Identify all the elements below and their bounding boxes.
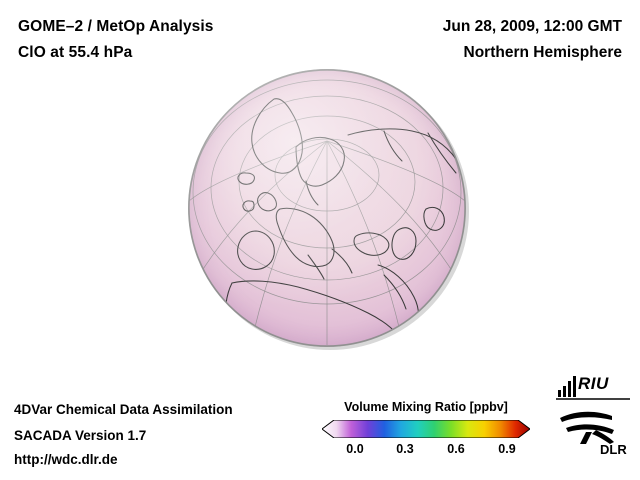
- dlr-bird-icon: [560, 412, 614, 444]
- colorbar-tick-3: 0.9: [498, 442, 515, 456]
- colorbar-tick-2: 0.6: [447, 442, 464, 456]
- dlr-label: DLR: [600, 442, 627, 457]
- page-title: GOME–2 / MetOp Analysis: [18, 18, 214, 36]
- colorbar-title: Volume Mixing Ratio [ppbv]: [312, 400, 540, 414]
- hemisphere-label: Northern Hemisphere: [464, 44, 622, 62]
- dlr-logo: RIU DLR: [556, 372, 632, 462]
- riu-label: RIU: [578, 374, 609, 394]
- colorbar-tick-0: 0.0: [346, 442, 363, 456]
- colorbar-gradient: [322, 420, 530, 438]
- globe-map: [185, 64, 475, 370]
- graticule-meridians: [189, 141, 465, 345]
- footer-line-2: SACADA Version 1.7: [14, 428, 146, 443]
- timestamp-label: Jun 28, 2009, 12:00 GMT: [443, 18, 622, 36]
- page-subtitle: ClO at 55.4 hPa: [18, 44, 132, 62]
- colorbar-tick-1: 0.3: [396, 442, 413, 456]
- colorbar-ticks: 0.0 0.3 0.6 0.9: [312, 442, 540, 460]
- coastlines: [225, 99, 456, 347]
- colorbar: Volume Mixing Ratio [ppbv]: [312, 400, 540, 462]
- footer-url[interactable]: http://wdc.dlr.de: [14, 452, 118, 467]
- riu-stripes-icon: [558, 376, 576, 397]
- footer-line-1: 4DVar Chemical Data Assimilation: [14, 402, 233, 417]
- globe-overlay: [188, 69, 466, 347]
- figure-canvas: GOME–2 / MetOp Analysis ClO at 55.4 hPa …: [0, 0, 640, 480]
